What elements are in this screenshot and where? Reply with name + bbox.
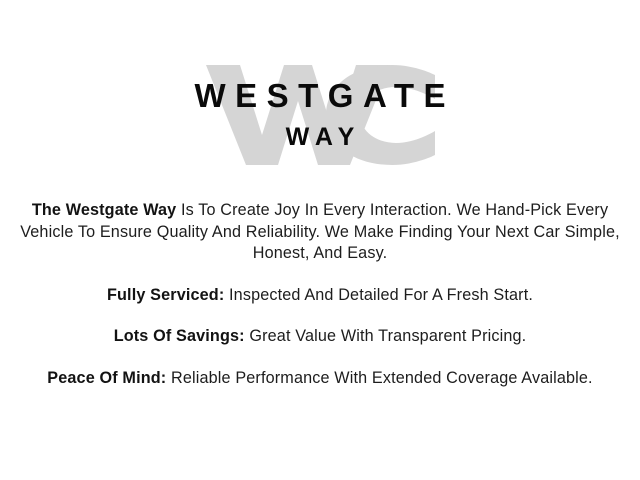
paragraph-body-peace-of-mind: Reliable Performance With Extended Cover… — [166, 369, 592, 387]
paragraph-lead-fully-serviced: Fully Serviced: — [107, 286, 224, 304]
paragraph-fully-serviced: Fully Serviced: Inspected And Detailed F… — [14, 285, 626, 307]
paragraph-westgate-way: The Westgate Way Is To Create Joy In Eve… — [14, 200, 626, 265]
paragraph-lead-westgate-way: The Westgate Way — [32, 201, 177, 219]
paragraph-body-lots-of-savings: Great Value With Transparent Pricing. — [245, 327, 527, 345]
brand-logo-text: WESTGATE WAY — [0, 52, 640, 177]
paragraph-lead-lots-of-savings: Lots Of Savings: — [114, 327, 245, 345]
paragraph-peace-of-mind: Peace Of Mind: Reliable Performance With… — [14, 368, 626, 390]
value-proposition-text-block: The Westgate Way Is To Create Joy In Eve… — [14, 200, 626, 389]
brand-logo-lockup: WESTGATE WAY — [0, 52, 640, 177]
logo-secondary-word: WAY — [279, 125, 362, 150]
dealer-value-proposition-panel: WESTGATE WAY The Westgate Way Is To Crea… — [0, 0, 640, 480]
paragraph-lead-peace-of-mind: Peace Of Mind: — [47, 369, 166, 387]
logo-primary-word: WESTGATE — [185, 79, 455, 112]
paragraph-lots-of-savings: Lots Of Savings: Great Value With Transp… — [14, 326, 626, 348]
paragraph-body-fully-serviced: Inspected And Detailed For A Fresh Start… — [224, 286, 533, 304]
